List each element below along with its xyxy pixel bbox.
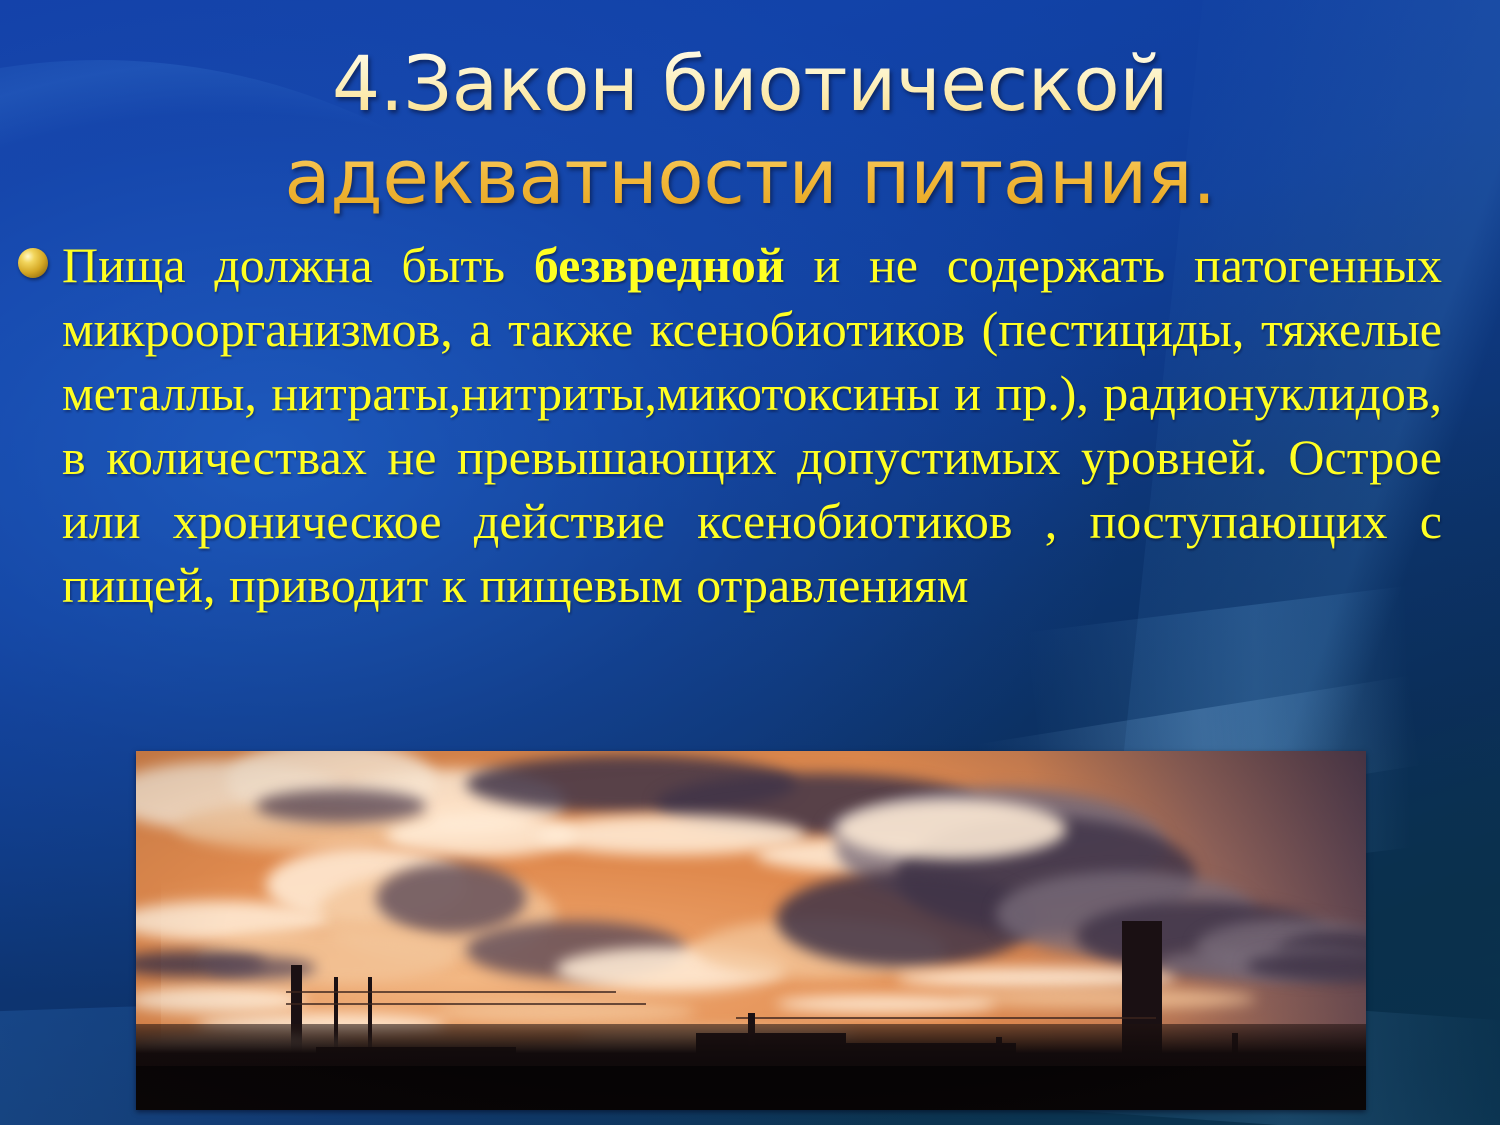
- body-text-emphasis: безвредной: [534, 237, 785, 293]
- slide-body-text: Пища должна быть безвредной и не содержа…: [62, 233, 1442, 617]
- photo-edge-shading: [136, 751, 1366, 1110]
- body-text-lead: Пища должна быть: [62, 237, 534, 293]
- presentation-slide: 4.Закон биотической адекватности питания…: [0, 0, 1500, 1125]
- industrial-pollution-photo: [136, 751, 1366, 1110]
- slide-title: 4.Закон биотической адекватности питания…: [270, 38, 1230, 223]
- gold-sphere-bullet-icon: [18, 248, 48, 278]
- body-text-rest: и не содержать патогенных микроорганизмо…: [62, 237, 1442, 613]
